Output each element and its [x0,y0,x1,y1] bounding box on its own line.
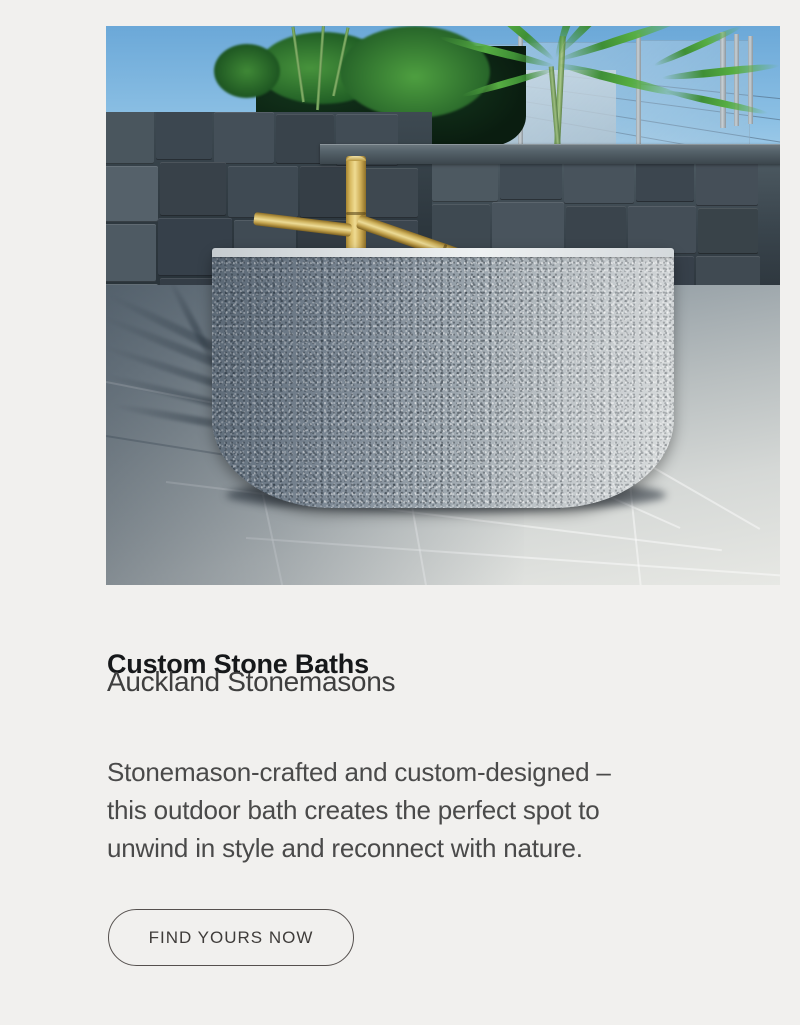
stone-block [696,160,758,206]
photo-scene [106,26,780,585]
stone-block [698,208,758,254]
stone-block [160,162,226,216]
stone-block [566,206,626,252]
stone-block [492,202,564,250]
body-copy: Stonemason-crafted and custom-designed –… [107,753,755,867]
stone-block [106,166,158,222]
stone-block [106,224,156,282]
foliage-clump [214,44,280,98]
stone-block [156,112,212,160]
stone-block [564,158,634,204]
hero-photo [106,26,780,585]
stone-bath [212,248,674,508]
stone-block [360,168,418,218]
stone-bath-rim [212,248,674,257]
stone-block [228,166,298,218]
stone-block [636,158,694,202]
promo-card: Custom Stone Baths Auckland Stonemasons … [0,0,800,1025]
balustrade-post [720,32,726,128]
stone-block [628,206,696,254]
stone-block [106,112,154,164]
find-yours-now-button[interactable]: FIND YOURS NOW [108,909,354,966]
wall-capstone [320,144,780,164]
subtitle: Auckland Stonemasons [107,666,395,698]
balustrade-post [636,34,641,152]
stone-block [214,112,274,164]
balustrade-post [734,34,739,126]
foliage-clump [340,26,490,118]
